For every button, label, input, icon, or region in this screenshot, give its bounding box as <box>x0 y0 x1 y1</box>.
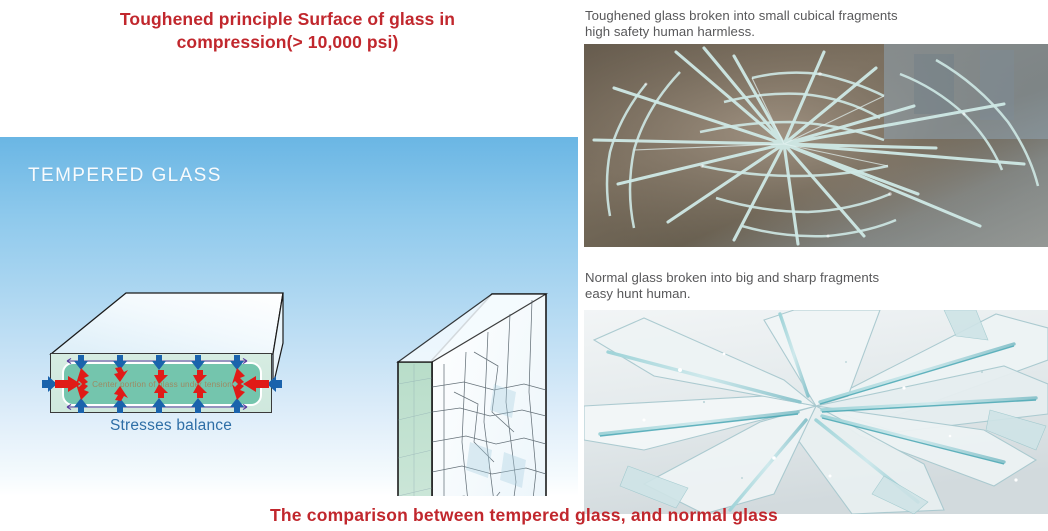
normal-glass-shards-photo <box>584 310 1048 514</box>
stress-slab-illustration: Center portion of glass under tension <box>42 265 292 455</box>
normal-photo-caption-line-1: Normal glass broken into big and sharp f… <box>585 270 879 286</box>
page-title-line-2: compression(> 10,000 psi) <box>0 31 575 54</box>
stresses-balance-label: Stresses balance <box>60 417 282 435</box>
tempered-photo-caption: Toughened glass broken into small cubica… <box>585 8 898 40</box>
tempered-glass-diagram-panel: TEMPERED GLASS <box>0 137 578 496</box>
page-title: Toughened principle Surface of glass in … <box>0 8 575 54</box>
tension-arrows-top <box>76 367 245 385</box>
bottom-caption: The comparison between tempered glass, a… <box>0 505 1048 526</box>
compression-arrows-bottom <box>74 398 244 413</box>
normal-photo-caption: Normal glass broken into big and sharp f… <box>585 270 879 302</box>
tempered-photo-caption-line-2: high safety human harmless. <box>585 24 898 40</box>
tension-arrows-bottom <box>76 383 245 401</box>
page-title-line-1: Toughened principle Surface of glass in <box>0 8 575 31</box>
slab-cross-section: Center portion of glass under tension <box>50 353 272 413</box>
diagram-panel-title: TEMPERED GLASS <box>28 165 222 187</box>
fragmented-glass-block-illustration <box>374 292 560 496</box>
compression-arrows-top <box>74 355 244 370</box>
normal-photo-caption-line-2: easy hunt human. <box>585 286 879 302</box>
tempered-glass-shattered-photo <box>584 44 1048 247</box>
tempered-photo-caption-line-1: Toughened glass broken into small cubica… <box>585 8 898 24</box>
stress-arrows-overlay <box>51 354 273 414</box>
